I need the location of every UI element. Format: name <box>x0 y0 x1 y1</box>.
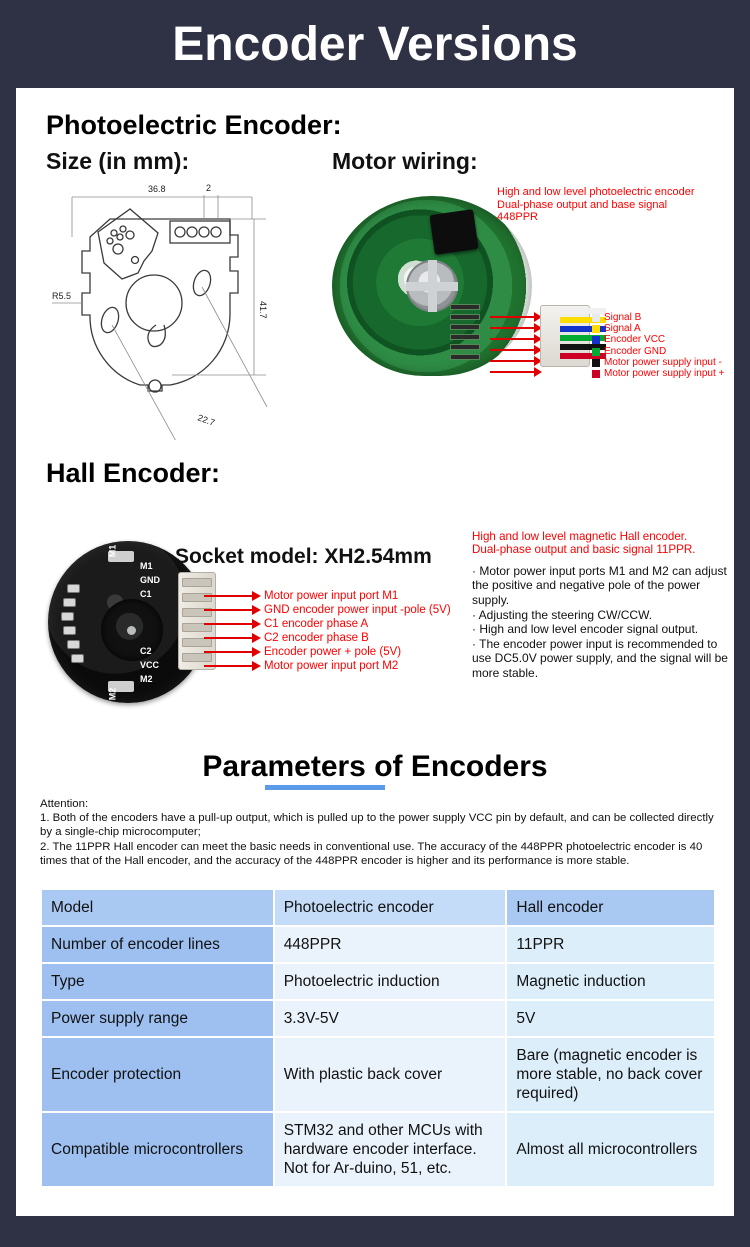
smd-part <box>64 599 75 606</box>
photoelectric-note-line-2: Dual-phase output and base signal <box>497 199 695 212</box>
swatch-signal-a-icon <box>592 325 600 333</box>
table-cell: Bare (magnetic encoder is more stable, n… <box>507 1038 714 1111</box>
board-mark-m1: M1 <box>140 561 153 571</box>
hall-pin-label: Motor power input port M1 <box>264 590 398 603</box>
legend-label: Signal B <box>604 313 641 323</box>
photoelectric-heading: Photoelectric Encoder: <box>46 110 342 141</box>
legend-item: Signal A <box>592 323 724 334</box>
solder-pads <box>450 304 480 366</box>
legend-item: Signal B <box>592 312 724 323</box>
board-mark-vcc: VCC <box>140 660 159 670</box>
smd-part <box>62 613 73 620</box>
parameters-heading: Parameters of Encoders <box>16 750 734 784</box>
table-cell: 11PPR <box>507 927 714 962</box>
table-cell: Power supply range <box>42 1001 273 1036</box>
board-mark-c1: C1 <box>140 589 152 599</box>
hall-red-note-line-2: Dual-phase output and basic signal 11PPR… <box>472 543 734 556</box>
hall-bullet-1: · Motor power input ports M1 and M2 can … <box>472 564 734 608</box>
table-cell: Encoder protection <box>42 1038 273 1111</box>
table-header-cell: Photoelectric encoder <box>275 890 506 925</box>
photoelectric-arrows <box>490 312 544 378</box>
hall-shaft <box>101 599 163 661</box>
photoelectric-note-line-1: High and low level photoelectric encoder <box>497 186 695 199</box>
table-cell: 3.3V-5V <box>275 1001 506 1036</box>
smd-part <box>64 627 75 634</box>
attention-item-2: 2. The 11PPR Hall encoder can meet the b… <box>40 840 716 868</box>
table-cell: 448PPR <box>275 927 506 962</box>
attention-title: Attention: <box>40 797 716 811</box>
table-cell: Compatible microcontrollers <box>42 1113 273 1186</box>
swatch-encoder-vcc-icon <box>592 336 600 344</box>
legend-label: Signal A <box>604 324 641 334</box>
hall-pin-label: C1 encoder phase A <box>264 618 368 631</box>
hall-heading: Hall Encoder: <box>46 458 220 489</box>
table-row: Power supply range 3.3V-5V 5V <box>42 1001 714 1036</box>
legend-item: Motor power supply input - <box>592 357 724 368</box>
photoelectric-note: High and low level photoelectric encoder… <box>497 186 695 224</box>
table-cell: Type <box>42 964 273 999</box>
table-cell: Photoelectric induction <box>275 964 506 999</box>
size-drawing-svg: 36.8 2 R5.5 41.7 22.7 <box>52 175 312 440</box>
legend-item: Encoder VCC <box>592 335 724 346</box>
slide-title-bar: Encoder Versions <box>0 0 750 88</box>
hall-pin-label: Encoder power + pole (5V) <box>264 646 401 659</box>
hall-socket-label: Socket model: XH2.54mm <box>175 545 432 569</box>
table-row: Type Photoelectric induction Magnetic in… <box>42 964 714 999</box>
hall-bullet-2: · Adjusting the steering CW/CCW. <box>472 608 734 623</box>
hall-bullet-3: · High and low level encoder signal outp… <box>472 622 734 637</box>
legend-label: Encoder GND <box>604 347 666 357</box>
parameters-heading-underline <box>265 785 385 790</box>
size-drawing: 36.8 2 R5.5 41.7 22.7 <box>52 175 312 440</box>
table-cell: With plastic back cover <box>275 1038 506 1111</box>
photoelectric-size-label: Size (in mm): <box>46 148 189 175</box>
dim-width: 36.8 <box>148 184 166 194</box>
swatch-signal-b-icon <box>592 314 600 322</box>
page-title: Encoder Versions <box>172 17 578 72</box>
hall-pin-label: Motor power input port M2 <box>264 660 398 673</box>
wire-legend: Signal B Signal A Encoder VCC Encoder GN… <box>592 312 724 380</box>
slide-root: Encoder Versions Photoelectric Encoder: … <box>0 0 750 1247</box>
photoelectric-wiring-label: Motor wiring: <box>332 148 478 175</box>
attention-item-1: 1. Both of the encoders have a pull-up o… <box>40 811 716 839</box>
board-mark-m2: M2 <box>140 674 153 684</box>
dim-diagonal: 22.7 <box>196 412 216 427</box>
legend-label: Motor power supply input - <box>604 358 722 368</box>
smd-part <box>68 641 79 648</box>
smd-part <box>68 585 79 592</box>
dim-radius: R5.5 <box>52 291 71 301</box>
board-mark-m1-top: M1 <box>107 545 117 558</box>
table-cell: Almost all microcontrollers <box>507 1113 714 1186</box>
table-row: Encoder protection With plastic back cov… <box>42 1038 714 1111</box>
legend-item: Encoder GND <box>592 346 724 357</box>
table-header-row: Model Photoelectric encoder Hall encoder <box>42 890 714 925</box>
hall-pin-label: C2 encoder phase B <box>264 632 369 645</box>
table-row: Number of encoder lines 448PPR 11PPR <box>42 927 714 962</box>
table-cell: Number of encoder lines <box>42 927 273 962</box>
hall-pin-label: GND encoder power input -pole (5V) <box>264 604 451 617</box>
table-row: Compatible microcontrollers STM32 and ot… <box>42 1113 714 1186</box>
dim-connector: 2 <box>206 183 211 193</box>
attention-block: Attention: 1. Both of the encoders have … <box>40 797 716 868</box>
table-cell: Magnetic induction <box>507 964 714 999</box>
hall-connector <box>178 572 216 670</box>
board-mark-gnd: GND <box>140 575 160 585</box>
driver-chip <box>429 209 478 255</box>
table-header-cell: Model <box>42 890 273 925</box>
table-header-cell: Hall encoder <box>507 890 714 925</box>
hall-bullet-4: · The encoder power input is recommended… <box>472 637 734 681</box>
swatch-motor-minus-icon <box>592 359 600 367</box>
swatch-encoder-gnd-icon <box>592 348 600 356</box>
parameters-table: Model Photoelectric encoder Hall encoder… <box>40 888 716 1188</box>
smd-part <box>72 655 83 662</box>
dim-height: 41.7 <box>258 301 268 319</box>
table-cell: 5V <box>507 1001 714 1036</box>
legend-item: Motor power supply input + <box>592 368 724 379</box>
board-mark-c2: C2 <box>140 646 152 656</box>
legend-label: Encoder VCC <box>604 335 665 345</box>
legend-label: Motor power supply input + <box>604 369 724 379</box>
photoelectric-note-line-3: 448PPR <box>497 211 695 224</box>
hall-description: High and low level magnetic Hall encoder… <box>472 530 734 681</box>
swatch-motor-plus-icon <box>592 370 600 378</box>
table-cell: STM32 and other MCUs with hardware encod… <box>275 1113 506 1186</box>
board-mark-m2-bottom: M2 <box>107 688 117 701</box>
hall-red-note-line-1: High and low level magnetic Hall encoder… <box>472 530 734 543</box>
